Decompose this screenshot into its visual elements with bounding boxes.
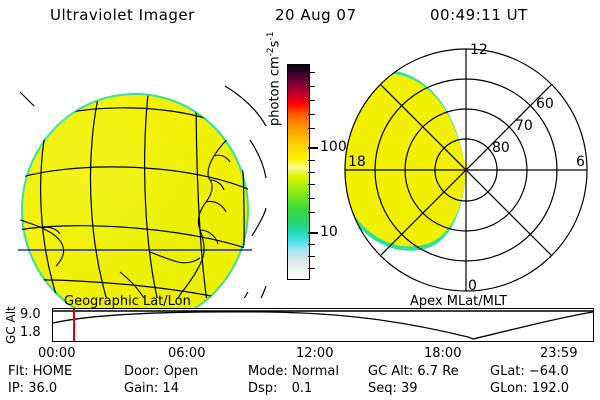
colorbar-tick xyxy=(308,114,315,115)
status-seq-value: 39 xyxy=(401,381,418,396)
orbit-track-svg xyxy=(53,309,593,341)
status-glon: GLon: 192.0 xyxy=(490,381,569,396)
mlat-label-80: 80 xyxy=(492,140,510,156)
uv-imager-display: Ultraviolet Imager 20 Aug 07 00:49:11 UT xyxy=(0,0,600,400)
colorbar-axis-title: photon cm-2s-1 xyxy=(266,32,282,126)
status-door-value: Open xyxy=(164,364,199,379)
status-dsp-label: Dsp: xyxy=(248,381,277,396)
colorbar-tick-major-100 xyxy=(308,147,318,149)
status-seq: Seq: 39 xyxy=(368,381,418,396)
status-gain-label: Gain: xyxy=(124,381,158,396)
status-gc-alt-label: GC Alt: xyxy=(368,364,413,379)
cbar-unit-mid: s xyxy=(267,41,282,48)
orbit-ytick-low: 1.8 xyxy=(20,325,41,340)
colorbar-tick xyxy=(308,184,315,185)
orbit-altitude-panel: GC Alt 9.0 1.8 xyxy=(0,308,600,344)
colorbar-gradient xyxy=(287,64,310,280)
status-block: Flt: HOME Door: Open Mode: Normal GC Alt… xyxy=(0,364,600,398)
globe-graticule-overlay xyxy=(0,40,268,298)
status-glon-label: GLon: xyxy=(490,381,528,396)
status-glon-value: 192.0 xyxy=(532,381,569,396)
cbar-unit-exp1: -2 xyxy=(266,47,276,56)
colorbar-label-10: 10 xyxy=(320,225,338,239)
status-gain-value: 14 xyxy=(162,381,179,396)
status-gc-alt: GC Alt: 6.7 Re xyxy=(368,364,459,379)
time-tick-0600: 06:00 xyxy=(168,346,205,361)
colorbar-tick xyxy=(308,100,315,101)
header-bar: Ultraviolet Imager 20 Aug 07 00:49:11 UT xyxy=(0,6,600,32)
coastline-paths xyxy=(16,118,252,298)
status-glat-value: −64.0 xyxy=(529,364,569,379)
observation-time: 00:49:11 UT xyxy=(430,6,528,24)
status-ip-value: 36.0 xyxy=(28,381,57,396)
mlat-label-70: 70 xyxy=(515,118,533,134)
colorbar-tick xyxy=(308,268,315,269)
colorbar-tick xyxy=(308,72,315,73)
orbit-y-axis-label: GC Alt xyxy=(4,306,18,344)
colorbar-tick xyxy=(308,160,315,161)
orbit-plot-area[interactable] xyxy=(52,308,594,342)
status-flight-value: HOME xyxy=(33,364,72,379)
status-mode-value: Normal xyxy=(292,364,339,379)
status-row-1: Flt: HOME Door: Open Mode: Normal GC Alt… xyxy=(0,364,600,380)
status-glat-label: GLat: xyxy=(490,364,525,379)
colorbar-tick xyxy=(308,198,315,199)
status-door: Door: Open xyxy=(124,364,198,379)
time-axis: 00:00 06:00 12:00 18:00 23:59 xyxy=(0,346,600,362)
cbar-unit-main: photon cm xyxy=(267,56,282,126)
status-ip: IP: 36.0 xyxy=(8,381,57,396)
status-glat: GLat: −64.0 xyxy=(490,364,569,379)
mlt-spokes xyxy=(345,49,587,291)
status-dsp: Dsp: 0.1 xyxy=(248,381,312,396)
status-mode-label: Mode: xyxy=(248,364,288,379)
colorbar-tick-major-10 xyxy=(308,232,318,234)
mlt-label-12: 12 xyxy=(470,42,488,58)
caption-geographic: Geographic Lat/Lon xyxy=(64,294,191,309)
colorbar-tick xyxy=(308,86,315,87)
orbit-ytick-high: 9.0 xyxy=(20,307,41,322)
orbit-altitude-curve xyxy=(53,312,593,339)
status-flight-label: Flt: xyxy=(8,364,29,379)
mlt-label-18: 18 xyxy=(348,154,366,170)
colorbar-tick xyxy=(308,256,315,257)
status-row-2: IP: 36.0 Gain: 14 Dsp: 0.1 Seq: 39 GLon:… xyxy=(0,381,600,397)
caption-apex: Apex MLat/MLT xyxy=(410,294,507,309)
orbit-y-axis-label-wrap: GC Alt xyxy=(2,306,18,346)
status-ip-label: IP: xyxy=(8,381,24,396)
cbar-unit-exp2: -1 xyxy=(266,32,276,41)
colorbar-tick xyxy=(308,172,315,173)
status-gc-alt-value: 6.7 Re xyxy=(417,364,458,379)
polar-dial-panel: 12 18 6 0 60 70 80 xyxy=(340,40,600,298)
polar-dial-svg xyxy=(340,40,600,298)
mlt-label-0: 0 xyxy=(468,278,477,294)
colorbar-tick xyxy=(308,212,315,213)
geographic-globe-panel xyxy=(0,40,268,298)
status-gain: Gain: 14 xyxy=(124,381,179,396)
colorbar-tick xyxy=(308,244,315,245)
time-tick-1200: 12:00 xyxy=(296,346,333,361)
status-mode: Mode: Normal xyxy=(248,364,339,379)
time-tick-0000: 00:00 xyxy=(38,346,75,361)
time-tick-1800: 18:00 xyxy=(424,346,461,361)
colorbar-tick xyxy=(308,128,315,129)
orbit-current-time-marker[interactable] xyxy=(73,309,75,341)
mlt-label-6: 6 xyxy=(576,154,585,170)
observation-date: 20 Aug 07 xyxy=(275,6,357,24)
status-flight: Flt: HOME xyxy=(8,364,72,379)
time-tick-2359: 23:59 xyxy=(540,346,577,361)
status-seq-label: Seq: xyxy=(368,381,397,396)
status-dsp-value: 0.1 xyxy=(282,381,313,396)
status-door-label: Door: xyxy=(124,364,159,379)
mlat-label-60: 60 xyxy=(536,96,554,112)
page-title: Ultraviolet Imager xyxy=(50,6,195,24)
